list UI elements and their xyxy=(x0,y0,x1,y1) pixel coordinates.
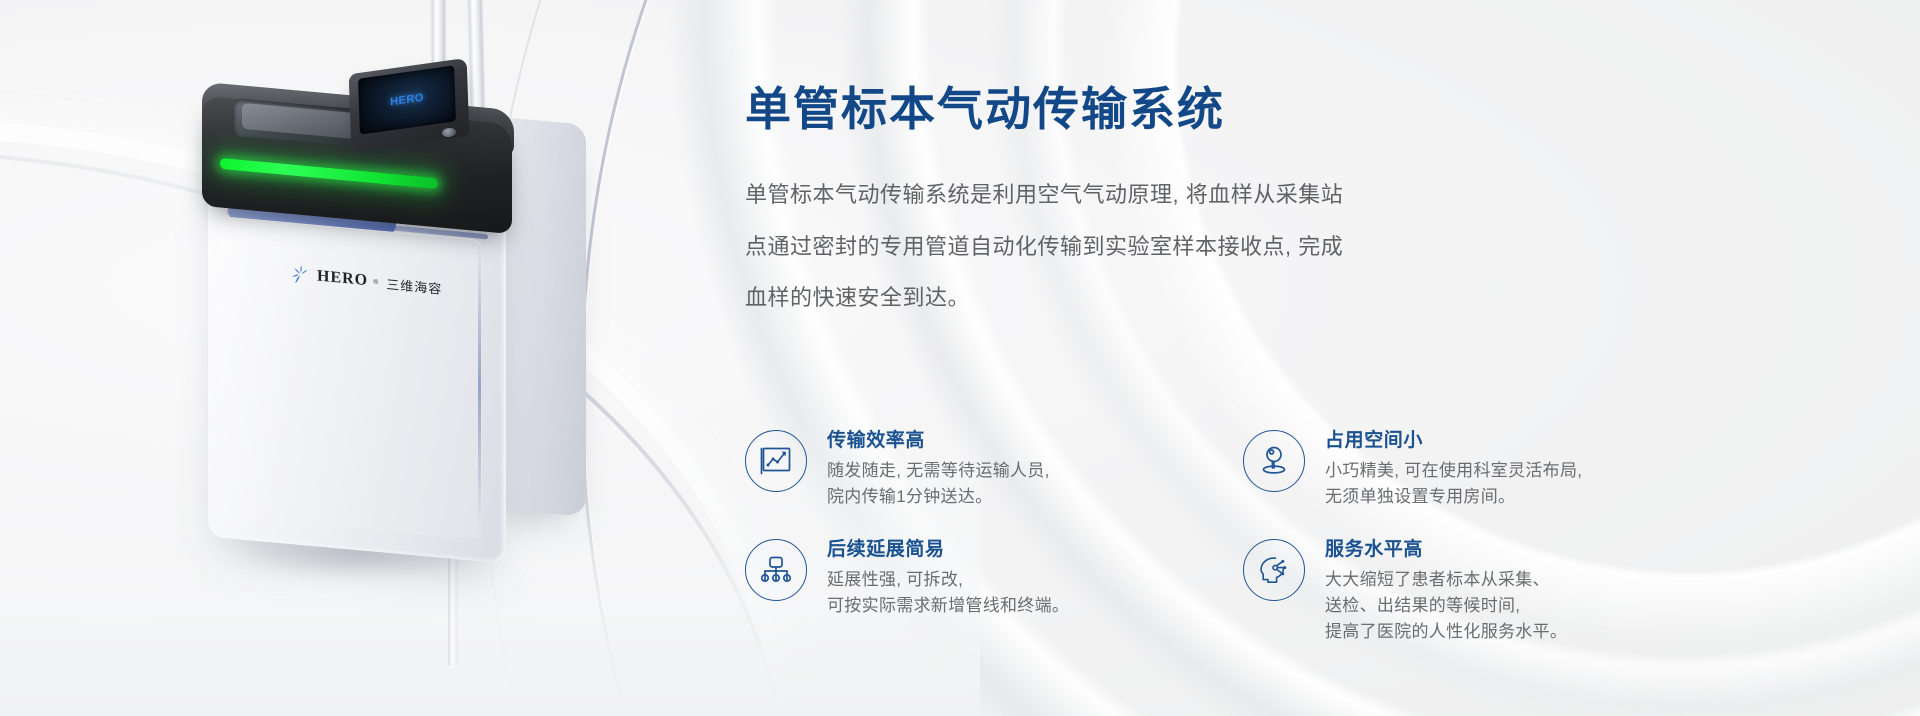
feature-item-easy-extension: 后续延展简易 延展性强, 可拆改, 可按实际需求新增管线和终端。 xyxy=(745,537,1243,644)
feature-title: 传输效率高 xyxy=(827,429,1050,454)
description-line: 血样的快速安全到达。 xyxy=(745,272,1545,324)
feature-line: 延展性强, 可拆改, xyxy=(827,567,1069,593)
brand-chinese-label: 三维海容 xyxy=(386,273,442,297)
feature-title: 服务水平高 xyxy=(1325,538,1567,563)
feature-text: 后续延展简易 延展性强, 可拆改, 可按实际需求新增管线和终端。 xyxy=(827,537,1069,618)
feature-line: 送检、出结果的等候时间, xyxy=(1325,593,1567,619)
product-door-panel xyxy=(220,216,482,540)
feature-line: 大大缩短了患者标本从采集、 xyxy=(1325,567,1567,593)
feature-list: 传输效率高 随发随走, 无需等待运输人员, 院内传输1分钟送达。 占用空间小 小… xyxy=(745,428,1805,645)
feature-line: 提高了医院的人性化服务水平。 xyxy=(1325,619,1567,645)
banner-description: 单管标本气动传输系统是利用空气气动原理, 将血样从采集站 点通过密封的专用管道自… xyxy=(745,169,1545,325)
feature-title: 占用空间小 xyxy=(1325,429,1582,454)
feature-line: 院内传输1分钟送达。 xyxy=(827,484,1050,510)
space-footprint-icon xyxy=(1243,430,1305,492)
banner-content: 单管标本气动传输系统 单管标本气动传输系统是利用空气气动原理, 将血样从采集站 … xyxy=(745,84,1645,324)
pneumatic-tube-right xyxy=(468,0,484,122)
brand-registered-mark: ® xyxy=(373,278,378,285)
brand-latin-label: HERO xyxy=(317,268,368,291)
feature-text: 传输效率高 随发随走, 无需等待运输人员, 院内传输1分钟送达。 xyxy=(827,428,1050,509)
feature-item-transmission-efficiency: 传输效率高 随发随走, 无需等待运输人员, 院内传输1分钟送达。 xyxy=(745,428,1243,509)
product-image: HERO HERO ® 三维海容 xyxy=(150,0,620,660)
description-line: 单管标本气动传输系统是利用空气气动原理, 将血样从采集站 xyxy=(745,169,1545,221)
screen-brand-label: HERO xyxy=(390,92,424,109)
page-title: 单管标本气动传输系统 xyxy=(745,84,1645,135)
feature-item-small-footprint: 占用空间小 小巧精美, 可在使用科室灵活布局, 无须单独设置专用房间。 xyxy=(1243,428,1763,509)
product-door-seam xyxy=(478,240,481,530)
product-banner: HERO HERO ® 三维海容 单管标本气动传输系统 单管标本气动传输系统是利… xyxy=(0,0,1920,716)
feature-line: 可按实际需求新增管线和终端。 xyxy=(827,593,1069,619)
feature-text: 占用空间小 小巧精美, 可在使用科室灵活布局, 无须单独设置专用房间。 xyxy=(1325,428,1582,509)
feature-title: 后续延展简易 xyxy=(827,538,1069,563)
network-tree-icon xyxy=(745,539,807,601)
description-line: 点通过密封的专用管道自动化传输到实验室样本接收点, 完成 xyxy=(745,221,1545,273)
hero-logo-mark-icon xyxy=(290,263,312,287)
feature-line: 随发随走, 无需等待运输人员, xyxy=(827,458,1050,484)
feature-line: 无须单独设置专用房间。 xyxy=(1325,484,1582,510)
chart-trend-icon xyxy=(745,430,807,492)
feature-line: 小巧精美, 可在使用科室灵活布局, xyxy=(1325,458,1582,484)
smart-head-icon xyxy=(1243,539,1305,601)
feature-item-service-level: 服务水平高 大大缩短了患者标本从采集、 送检、出结果的等候时间, 提高了医院的人… xyxy=(1243,537,1763,644)
feature-text: 服务水平高 大大缩短了患者标本从采集、 送检、出结果的等候时间, 提高了医院的人… xyxy=(1325,537,1567,644)
